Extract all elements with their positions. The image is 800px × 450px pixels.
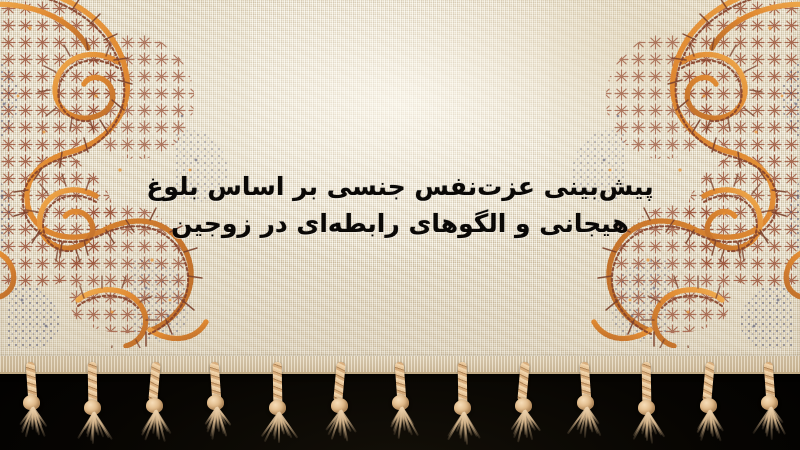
slide-title-line-1: پیش‌بینی عزت‌نفس جنسی بر اساس بلوغ (0, 168, 800, 205)
tassel-threads (17, 407, 47, 443)
tassel-threads (78, 412, 108, 448)
tassel-cord (517, 362, 529, 403)
tassel-threads (509, 410, 539, 446)
tassel-threads (140, 410, 170, 446)
slide-canvas: پیش‌بینی عزت‌نفس جنسی بر اساس بلوغ هیجان… (0, 0, 800, 450)
tassel (756, 362, 782, 442)
tassel (264, 362, 290, 442)
tassel-threads (263, 412, 293, 448)
tassel-threads (571, 407, 601, 443)
tassel-cord (333, 362, 345, 403)
tassel (326, 362, 352, 442)
tassel-threads (201, 407, 231, 443)
tassel (510, 362, 536, 442)
tassel (449, 362, 475, 442)
tassel (141, 362, 167, 442)
tassel-threads (632, 412, 662, 448)
tassel-threads (386, 407, 416, 443)
tassel-cord (702, 362, 714, 403)
tassel (202, 362, 228, 442)
tassel-threads (325, 410, 355, 446)
tassel (572, 362, 598, 442)
tassel-cord (148, 362, 160, 403)
tassel-threads (448, 412, 478, 448)
slide-title: پیش‌بینی عزت‌نفس جنسی بر اساس بلوغ هیجان… (0, 168, 800, 242)
tassel-threads (694, 410, 724, 446)
tassel (387, 362, 413, 442)
tassel (695, 362, 721, 442)
tassel (79, 362, 105, 442)
tassel (633, 362, 659, 442)
knotted-tassel-fringe (0, 362, 800, 450)
tassel-threads (755, 407, 785, 443)
tassel (18, 362, 44, 442)
slide-title-line-2: هیجانی و الگوهای رابطه‌ای در زوجین (0, 205, 800, 242)
